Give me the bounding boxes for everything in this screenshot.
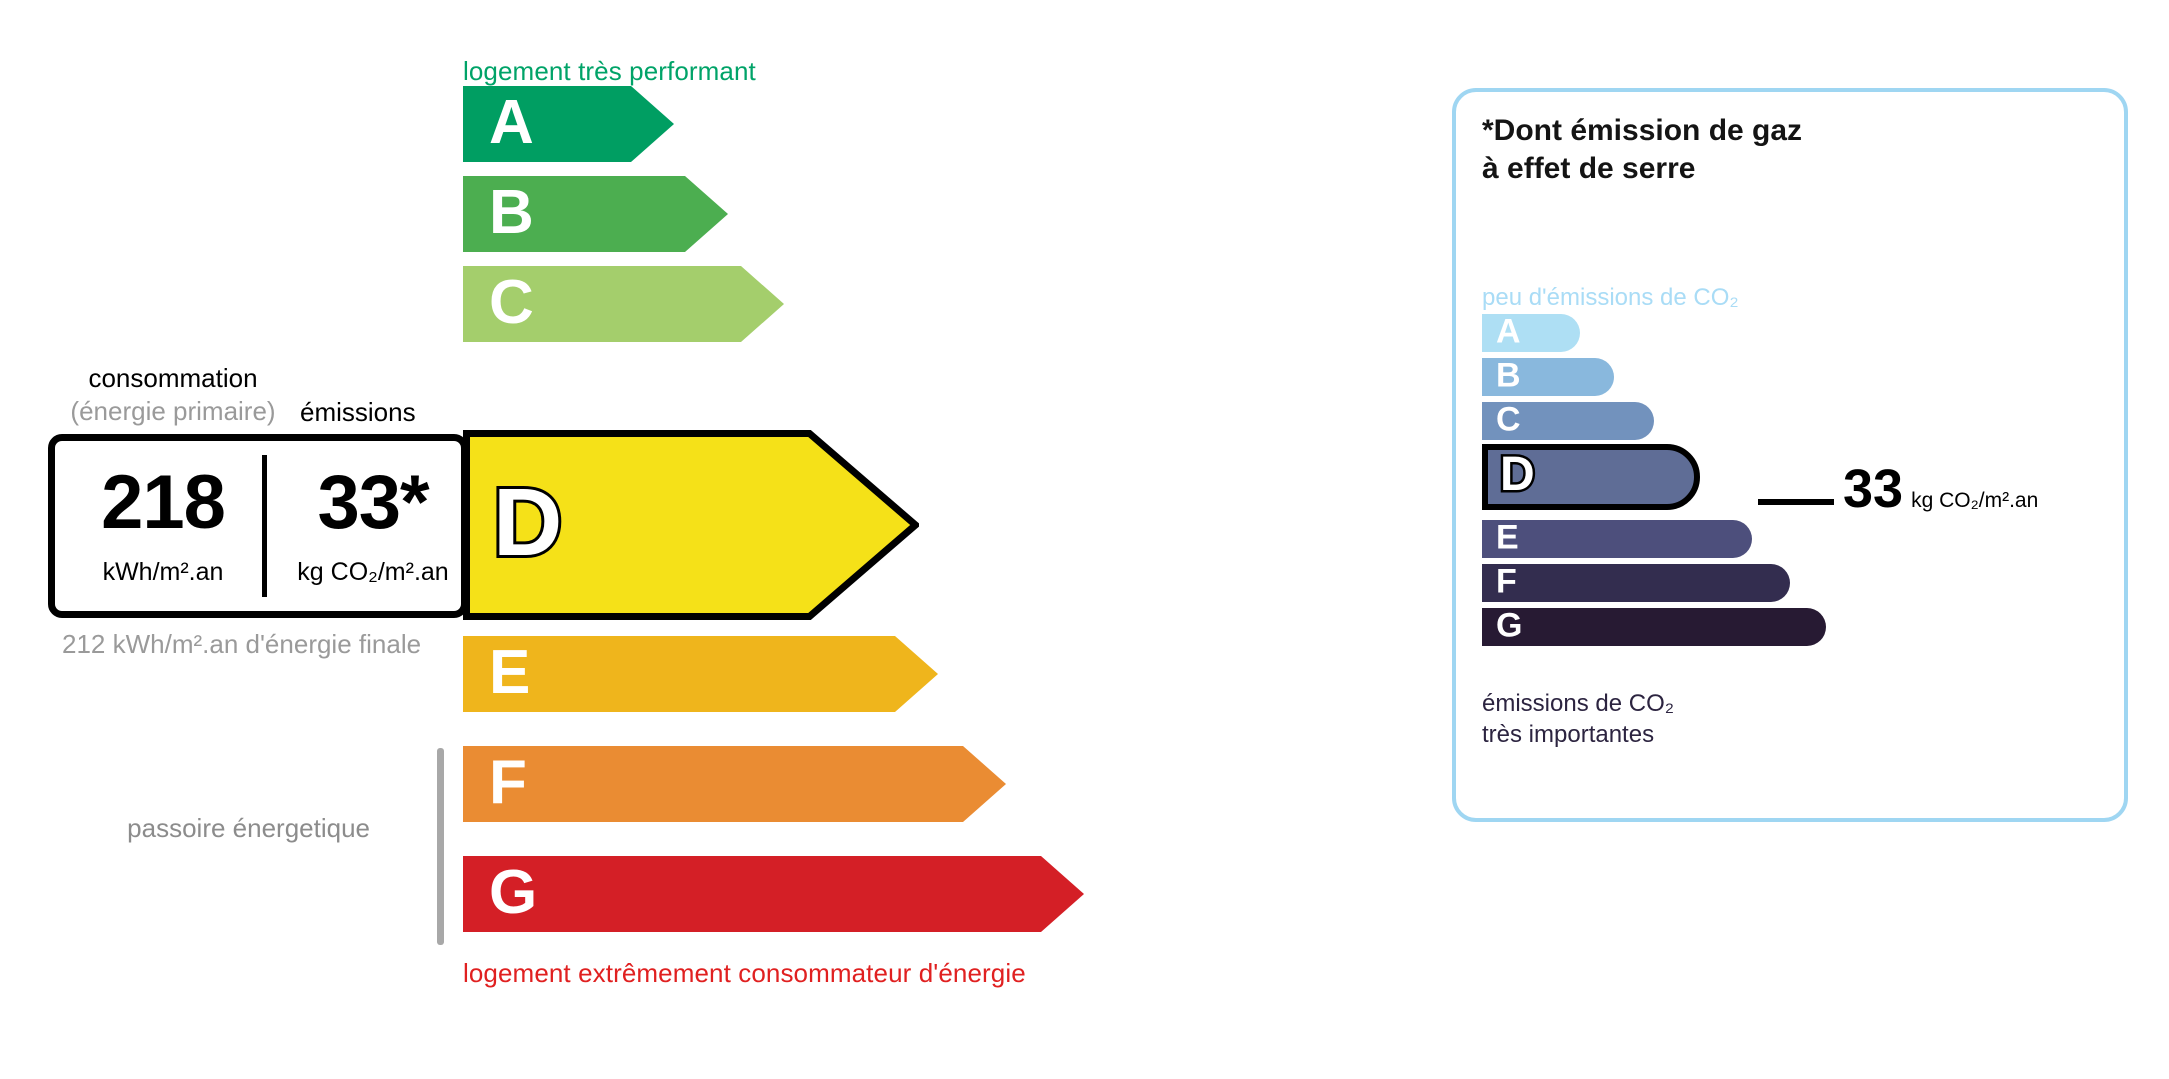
emissions-value: 33* <box>271 465 475 541</box>
energy-grade-row-b: B <box>463 176 728 252</box>
co2-grade-letter-a: A <box>1496 315 1521 349</box>
co2-bar-a: A <box>1482 314 1580 352</box>
energy-grade-row-g: G <box>463 856 1084 932</box>
co2-panel-title: *Dont émission de gaz à effet de serre <box>1482 112 1802 189</box>
energy-grade-letter-e: E <box>489 642 530 704</box>
energy-arrow-d: D <box>463 430 919 620</box>
consumption-subtitle: (énergie primaire) <box>48 395 298 428</box>
co2-grade-row-c: C <box>1482 402 1654 440</box>
energy-arrow-g: G <box>463 856 1084 932</box>
consumption-title: consommation <box>88 363 257 393</box>
emissions-heading: émissions <box>300 396 450 429</box>
passoire-bracket <box>437 748 444 945</box>
energy-grade-letter-b: B <box>489 182 534 244</box>
energy-arrow-e: E <box>463 636 938 712</box>
co2-value-number: 33 <box>1843 462 1903 516</box>
co2-emissions-panel: *Dont émission de gaz à effet de serre p… <box>1452 88 2128 822</box>
energy-grade-letter-c: C <box>489 272 534 334</box>
energy-grade-row-c: C <box>463 266 784 342</box>
energy-performance-label: logement très performant ABCDEFG 218 kWh… <box>0 0 1380 1079</box>
co2-grade-row-e: E <box>1482 520 1752 558</box>
consumption-cell: 218 kWh/m².an <box>55 441 271 611</box>
co2-bar-b: B <box>1482 358 1614 396</box>
co2-grade-letter-b: B <box>1496 359 1521 393</box>
energy-grade-row-d: D <box>463 430 919 620</box>
co2-grade-row-g: G <box>1482 608 1826 646</box>
co2-grade-letter-e: E <box>1496 521 1519 555</box>
co2-bar-d: D <box>1482 444 1700 510</box>
energy-arrow-c: C <box>463 266 784 342</box>
co2-bar-g: G <box>1482 608 1826 646</box>
energy-grade-letter-d: D <box>493 475 562 571</box>
co2-grade-row-f: F <box>1482 564 1790 602</box>
dpe-label-sheet: logement très performant ABCDEFG 218 kWh… <box>0 0 2169 1079</box>
consumption-unit: kWh/m².an <box>55 559 271 587</box>
energy-top-caption: logement très performant <box>463 56 756 87</box>
energy-grade-letter-g: G <box>489 862 537 924</box>
co2-bar-e: E <box>1482 520 1752 558</box>
co2-top-caption: peu d'émissions de CO₂ <box>1482 284 1739 312</box>
co2-grade-row-d: D <box>1482 444 1700 510</box>
co2-bar-f: F <box>1482 564 1790 602</box>
energy-grade-row-e: E <box>463 636 938 712</box>
value-box-divider <box>262 455 267 597</box>
co2-grade-letter-f: F <box>1496 565 1517 599</box>
energy-grade-letter-f: F <box>489 752 527 814</box>
energy-grade-row-f: F <box>463 746 1006 822</box>
final-energy-note: 212 kWh/m².an d'énergie finale <box>62 628 421 662</box>
energy-bottom-caption: logement extrêmement consommateur d'éner… <box>463 958 1026 989</box>
consumption-heading: consommation (énergie primaire) <box>48 362 298 427</box>
co2-grade-letter-g: G <box>1496 609 1522 643</box>
co2-grade-row-b: B <box>1482 358 1614 396</box>
co2-grade-letter-c: C <box>1496 403 1521 437</box>
co2-grade-letter-d: D <box>1500 451 1535 499</box>
energy-arrow-b: B <box>463 176 728 252</box>
emissions-unit: kg CO₂/m².an <box>271 559 475 587</box>
energy-arrow-f: F <box>463 746 1006 822</box>
co2-bottom-caption: émissions de CO₂ très importantes <box>1482 688 1674 750</box>
co2-leader-line <box>1758 499 1834 505</box>
energy-grade-row-a: A <box>463 86 674 162</box>
passoire-label: passoire énergetique <box>120 812 370 846</box>
energy-arrow-a: A <box>463 86 674 162</box>
energy-grade-letter-a: A <box>489 92 534 154</box>
co2-bar-c: C <box>1482 402 1654 440</box>
energy-value-box: 218 kWh/m².an 33* kg CO₂/m².an <box>48 434 468 618</box>
co2-value-unit: kg CO₂/m².an <box>1911 490 2038 516</box>
co2-grade-row-a: A <box>1482 314 1580 352</box>
consumption-value: 218 <box>55 465 271 541</box>
emissions-cell: 33* kg CO₂/m².an <box>271 441 475 611</box>
co2-value-callout: 33 kg CO₂/m².an <box>1843 462 2038 516</box>
